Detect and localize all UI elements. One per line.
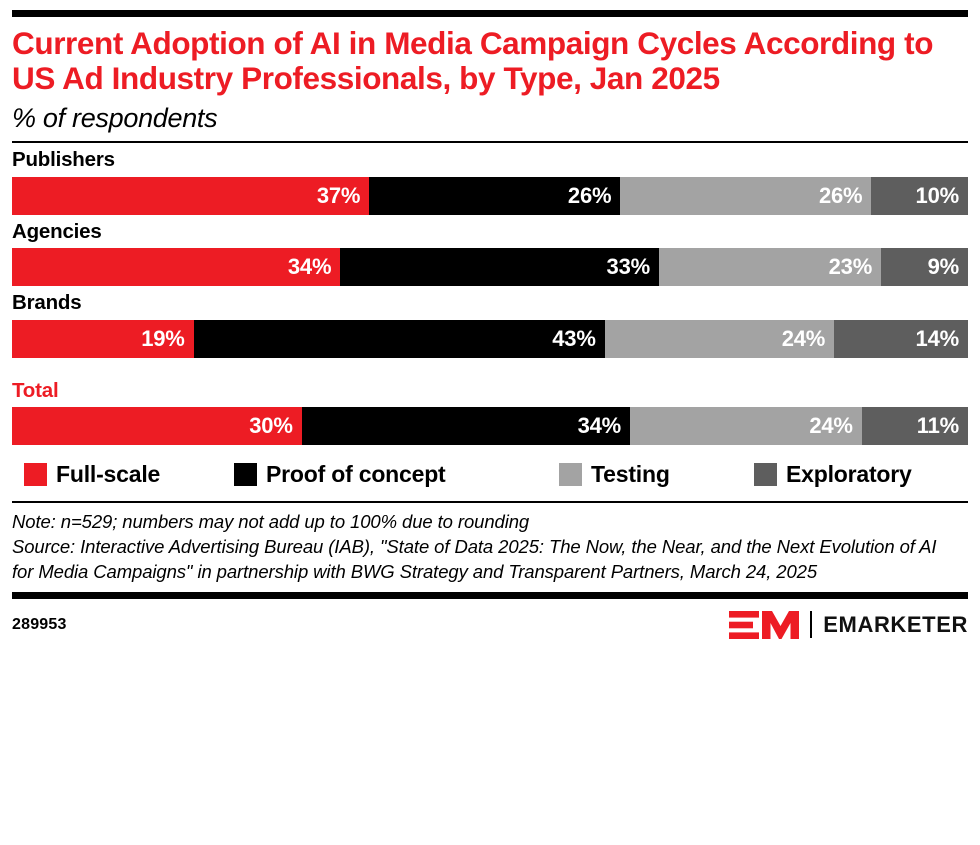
em-monogram-icon [729, 610, 801, 640]
legend-item-proof-of-concept[interactable]: Proof of concept [234, 461, 446, 488]
bar-segment-exploratory[interactable]: 9% [881, 248, 968, 286]
bar-segment-proof-of-concept[interactable]: 43% [194, 320, 605, 358]
source-text: Source: Interactive Advertising Bureau (… [12, 535, 962, 585]
legend-item-full-scale[interactable]: Full-scale [24, 461, 160, 488]
bottom-rule [12, 592, 968, 599]
bar-group-label: Publishers [12, 149, 968, 172]
stacked-bar: 34%33%23%9% [12, 248, 968, 286]
bar-segment-testing[interactable]: 23% [659, 248, 881, 286]
bar-segment-value: 43% [552, 326, 595, 352]
bar-segment-value: 24% [782, 326, 825, 352]
logo-wordmark: EMARKETER [823, 612, 968, 638]
chart-legend: Full-scaleProof of conceptTestingExplora… [12, 457, 968, 491]
bar-segment-value: 33% [607, 254, 650, 280]
bar-segment-value: 19% [141, 326, 184, 352]
bar-segment-proof-of-concept[interactable]: 34% [302, 407, 630, 445]
legend-label: Exploratory [786, 461, 912, 488]
stacked-bar: 30%34%24%11% [12, 407, 968, 445]
logo-divider [810, 611, 812, 638]
bar-segment-exploratory[interactable]: 11% [862, 407, 968, 445]
emarketer-logo: EMARKETER [729, 610, 968, 640]
bar-segment-testing[interactable]: 26% [620, 177, 871, 215]
legend-label: Full-scale [56, 461, 160, 488]
bar-segment-value: 11% [917, 413, 959, 439]
bar-segment-value: 14% [916, 326, 959, 352]
bar-segment-value: 34% [578, 413, 621, 439]
bar-segment-value: 23% [829, 254, 872, 280]
chart-groups: Publishers37%26%26%10%Agencies34%33%23%9… [12, 149, 968, 445]
bar-segment-value: 37% [317, 183, 360, 209]
header-divider [12, 141, 968, 143]
legend-item-exploratory[interactable]: Exploratory [754, 461, 912, 488]
top-rule [12, 10, 968, 17]
bar-segment-exploratory[interactable]: 14% [834, 320, 968, 358]
legend-label: Proof of concept [266, 461, 446, 488]
legend-label: Testing [591, 461, 670, 488]
notes-divider [12, 501, 968, 503]
bar-group-label: Agencies [12, 221, 968, 244]
stacked-bar: 19%43%24%14% [12, 320, 968, 358]
stacked-bar: 37%26%26%10% [12, 177, 968, 215]
bar-segment-value: 26% [819, 183, 862, 209]
chart-page: Current Adoption of AI in Media Campaign… [0, 10, 980, 845]
bar-segment-value: 24% [809, 413, 852, 439]
notes-block: Note: n=529; numbers may not add up to 1… [12, 510, 962, 584]
bar-segment-value: 10% [916, 183, 959, 209]
bar-segment-full-scale[interactable]: 34% [12, 248, 340, 286]
bar-group-brands: Brands19%43%24%14% [12, 292, 968, 358]
note-text: Note: n=529; numbers may not add up to 1… [12, 511, 529, 532]
bar-segment-testing[interactable]: 24% [630, 407, 862, 445]
bar-group-label: Brands [12, 292, 968, 315]
legend-swatch-icon [234, 463, 257, 486]
bar-segment-value: 30% [249, 413, 292, 439]
legend-item-testing[interactable]: Testing [559, 461, 670, 488]
bar-segment-full-scale[interactable]: 37% [12, 177, 369, 215]
footer: 289953 EMARKETER [12, 608, 968, 642]
bar-segment-exploratory[interactable]: 10% [871, 177, 968, 215]
bar-segment-full-scale[interactable]: 30% [12, 407, 302, 445]
bar-group-agencies: Agencies34%33%23%9% [12, 221, 968, 287]
chart-id: 289953 [12, 616, 67, 634]
bar-segment-value: 9% [928, 254, 959, 280]
bar-segment-value: 34% [288, 254, 331, 280]
bar-group-publishers: Publishers37%26%26%10% [12, 149, 968, 215]
bar-segment-proof-of-concept[interactable]: 26% [369, 177, 620, 215]
bar-group-label: Total [12, 380, 968, 403]
bar-segment-full-scale[interactable]: 19% [12, 320, 194, 358]
page-subtitle: % of respondents [12, 104, 968, 134]
bar-segment-proof-of-concept[interactable]: 33% [340, 248, 659, 286]
bar-segment-testing[interactable]: 24% [605, 320, 834, 358]
legend-swatch-icon [754, 463, 777, 486]
page-title: Current Adoption of AI in Media Campaign… [12, 26, 952, 97]
legend-swatch-icon [559, 463, 582, 486]
bar-segment-value: 26% [568, 183, 611, 209]
bar-group-total: Total30%34%24%11% [12, 380, 968, 446]
legend-swatch-icon [24, 463, 47, 486]
